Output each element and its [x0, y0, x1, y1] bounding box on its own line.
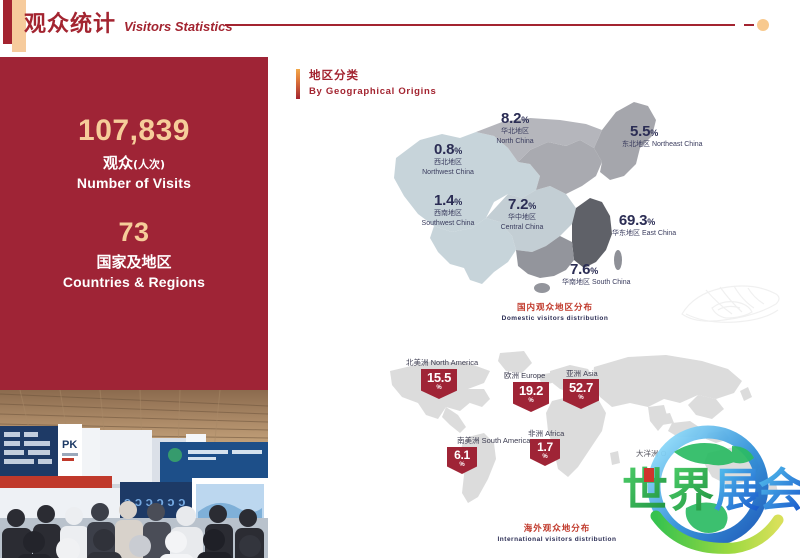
header-accent-bar-red — [3, 0, 12, 44]
world-name-cn-africa: 非洲 — [528, 429, 543, 438]
map-pin-asia[interactable]: 52.7 % — [563, 379, 599, 409]
region-hainan — [534, 283, 550, 293]
region-name-cn-northeast-china: 东北地区 — [622, 141, 650, 148]
region-unit-northwest-china: % — [454, 146, 462, 156]
world-name-en-africa: Africa — [545, 429, 564, 438]
svg-text:展: 展 — [714, 463, 760, 517]
pin-unit-asia: % — [578, 395, 583, 401]
stat-block-visits: 107,839 观众(人次) Number of Visits — [0, 115, 268, 191]
region-value-northeast-china: 5.5 — [630, 123, 650, 140]
map-pin-north-america[interactable]: 15.5 % — [421, 369, 457, 399]
page-title: 观众统计 Visitors Statistics — [24, 6, 233, 40]
stat-label-cn-visits-main: 观众 — [103, 154, 133, 172]
pin-unit-africa: % — [542, 454, 547, 460]
region-label-northeast-china: 5.5% 东北地区 Northeast China — [622, 123, 782, 150]
header-rule — [225, 24, 750, 26]
region-name-cn-southwest-china: 西南地区 — [434, 210, 462, 217]
region-value-northwest-china: 0.8 — [434, 141, 454, 158]
svg-text:界: 界 — [668, 463, 714, 517]
stats-panel: 107,839 观众(人次) Number of Visits 73 国家及地区… — [0, 57, 268, 558]
svg-text:PK: PK — [62, 439, 77, 451]
region-value-east-china: 69.3 — [619, 212, 647, 229]
world-name-en-south-america: South America — [482, 436, 531, 445]
pin-value-asia: 52.7 — [569, 381, 593, 394]
region-name-en-north-china: North China — [496, 138, 533, 145]
stat-block-countries: 73 国家及地区 Countries & Regions — [0, 218, 268, 290]
section-accent-bar — [296, 69, 300, 99]
region-name-en-east-china: East China — [642, 230, 676, 237]
world-name-cn-north-america: 北美洲 — [406, 358, 429, 367]
world-expo-logo: 世 界 展 会 — [612, 424, 800, 556]
world-name-en-asia: Asia — [583, 369, 598, 378]
region-unit-northeast-china: % — [650, 128, 658, 138]
region-label-northwest-china: 0.8% 西北地区 Northwest China — [398, 141, 498, 178]
region-unit-east-china: % — [647, 217, 655, 227]
region-name-cn-central-china: 华中地区 — [508, 214, 536, 221]
stat-label-cn-visits-sub: (人次) — [133, 158, 165, 171]
region-name-cn-east-china: 华东地区 — [612, 230, 640, 237]
world-label-europe: 欧洲 Europe — [504, 370, 545, 381]
region-value-north-china: 8.2 — [501, 110, 521, 127]
stat-label-cn-countries: 国家及地区 — [0, 251, 268, 272]
stat-label-en-countries: Countries & Regions — [0, 274, 268, 290]
world-label-asia: 亚洲 Asia — [566, 368, 598, 379]
map-pin-south-america[interactable]: 6.1 % — [447, 447, 477, 474]
region-name-cn-north-china: 华北地区 — [501, 128, 529, 135]
world-label-africa: 非洲 Africa — [528, 428, 564, 439]
svg-text:会: 会 — [758, 463, 800, 517]
region-unit-south-china: % — [590, 266, 598, 276]
region-name-en-south-china: South China — [592, 279, 631, 286]
region-name-en-northeast-china: Northeast China — [652, 141, 703, 148]
section-title-cn: 地区分类 — [309, 68, 437, 84]
world-name-cn-europe: 欧洲 — [504, 371, 519, 380]
pin-value-europe: 19.2 — [519, 384, 543, 397]
domestic-caption-en: Domestic visitors distribution — [460, 315, 650, 322]
region-label-central-china: 7.2% 华中地区 Central China — [482, 196, 562, 233]
stat-number-visits: 107,839 — [0, 115, 268, 147]
slide-root: 观众统计 Visitors Statistics 107,839 观众(人次) … — [0, 0, 800, 558]
world-name-en-europe: Europe — [521, 371, 545, 380]
header-rule-dash — [744, 24, 754, 26]
region-value-south-china: 7.6 — [570, 261, 590, 278]
shellfish-icon — [676, 274, 788, 332]
region-value-central-china: 7.2 — [508, 196, 528, 213]
region-name-en-central-china: Central China — [501, 224, 544, 231]
map-pin-europe[interactable]: 19.2 % — [513, 382, 549, 412]
page-title-cn: 观众统计 — [24, 6, 116, 38]
world-name-cn-asia: 亚洲 — [566, 369, 581, 378]
region-unit-north-china: % — [521, 115, 529, 125]
map-pin-africa[interactable]: 1.7 % — [530, 439, 560, 466]
world-name-en-north-america: North America — [431, 358, 479, 367]
pin-unit-south-america: % — [459, 462, 464, 468]
domestic-caption-cn: 国内观众地区分布 — [460, 301, 650, 313]
region-name-en-southwest-china: Southwest China — [422, 220, 475, 227]
pin-unit-europe: % — [528, 398, 533, 404]
stat-label-cn-visits: 观众(人次) — [0, 152, 268, 173]
header-rule-gap — [735, 24, 744, 26]
pin-value-south-america: 6.1 — [454, 449, 470, 461]
region-unit-southwest-china: % — [454, 197, 462, 207]
region-value-southwest-china: 1.4 — [434, 192, 454, 209]
region-unit-central-china: % — [528, 201, 536, 211]
stat-number-countries: 73 — [0, 218, 268, 246]
exhibition-photo: PK ɔ ɔ ɔ ɔ ɔ ɔ — [0, 390, 268, 558]
region-label-east-china: 69.3% 华东地区 East China — [612, 212, 782, 239]
world-label-north-america: 北美洲 North America — [406, 357, 478, 368]
world-label-south-america: 南美洲 South America — [457, 435, 530, 446]
world-name-cn-south-america: 南美洲 — [457, 436, 480, 445]
region-name-en-northwest-china: Northwest China — [422, 169, 474, 176]
region-east — [572, 198, 612, 268]
pin-value-north-america: 15.5 — [427, 371, 451, 384]
pin-value-africa: 1.7 — [537, 441, 553, 453]
region-name-cn-south-china: 华南地区 — [562, 279, 590, 286]
pin-unit-north-america: % — [436, 385, 441, 391]
domestic-caption: 国内观众地区分布 Domestic visitors distribution — [460, 301, 650, 322]
header-dot-icon — [757, 19, 769, 31]
stat-label-en-visits: Number of Visits — [0, 175, 268, 191]
page-title-en: Visitors Statistics — [124, 19, 233, 34]
region-name-cn-northwest-china: 西北地区 — [434, 159, 462, 166]
